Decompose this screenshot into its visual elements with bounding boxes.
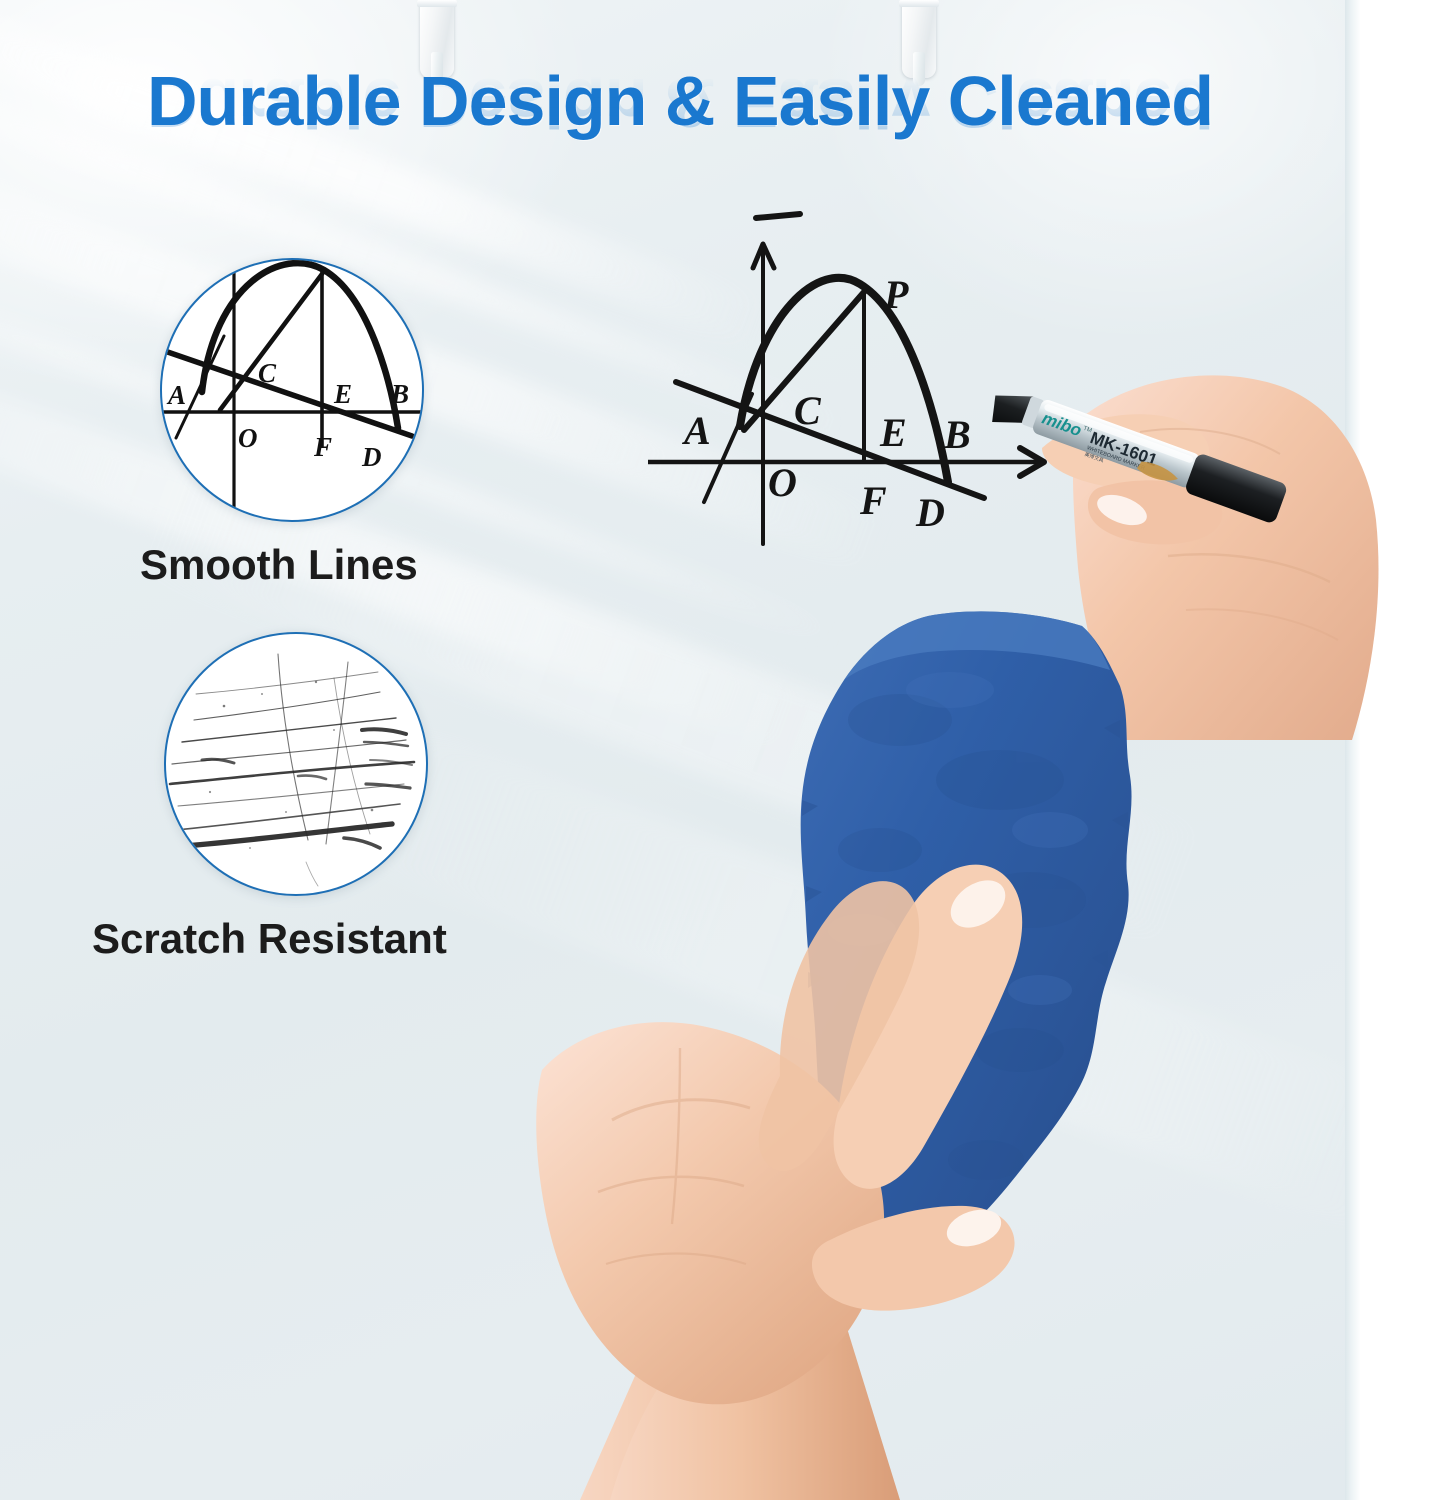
product-feature-image: Durable Design & Easily Cleaned Durable … xyxy=(0,0,1445,1500)
hook-cap xyxy=(899,0,939,7)
page-title-reflection: Durable Design & Easily Cleaned xyxy=(0,68,1360,138)
drawing-label-D: D xyxy=(915,490,945,535)
drawing-label-E: E xyxy=(879,410,907,455)
drawing-label-B: B xyxy=(943,412,971,457)
feature-scratch-resistant: Scratch Resistant xyxy=(164,632,447,960)
feature-circle-smooth-lines: A C E B O F D xyxy=(160,258,424,522)
diagram-label-D: D xyxy=(361,442,382,472)
feature-label-smooth-lines: Smooth Lines xyxy=(140,544,424,586)
headline-block: Durable Design & Easily Cleaned Durable … xyxy=(0,66,1360,208)
diagram-label-C: C xyxy=(258,358,277,388)
stray-marker-dash xyxy=(756,214,800,218)
drawing-label-A: A xyxy=(681,408,711,453)
diagram-label-B: B xyxy=(390,379,409,409)
drawing-label-O: O xyxy=(768,460,797,505)
zoomed-parabola-diagram: A C E B O F D xyxy=(162,260,422,520)
drawing-label-C: C xyxy=(794,388,822,433)
feature-smooth-lines: A C E B O F D Smooth Lines xyxy=(160,258,424,586)
diagram-label-A: A xyxy=(166,380,186,410)
page-margin-right xyxy=(1360,0,1445,1500)
hook-cap xyxy=(417,0,457,7)
drawing-label-P: P xyxy=(883,272,909,317)
erasing-hand-with-eraser xyxy=(430,600,1190,1500)
feature-circle-scratch-resistant xyxy=(164,632,428,896)
diagram-label-F: F xyxy=(313,432,332,462)
drawing-label-F: F xyxy=(859,478,887,523)
zoomed-scratch-texture xyxy=(166,634,426,894)
whiteboard-right-edge xyxy=(1345,0,1361,1500)
diagram-label-O: O xyxy=(238,423,258,453)
diagram-label-E: E xyxy=(333,379,352,409)
feature-label-scratch-resistant: Scratch Resistant xyxy=(92,918,447,960)
